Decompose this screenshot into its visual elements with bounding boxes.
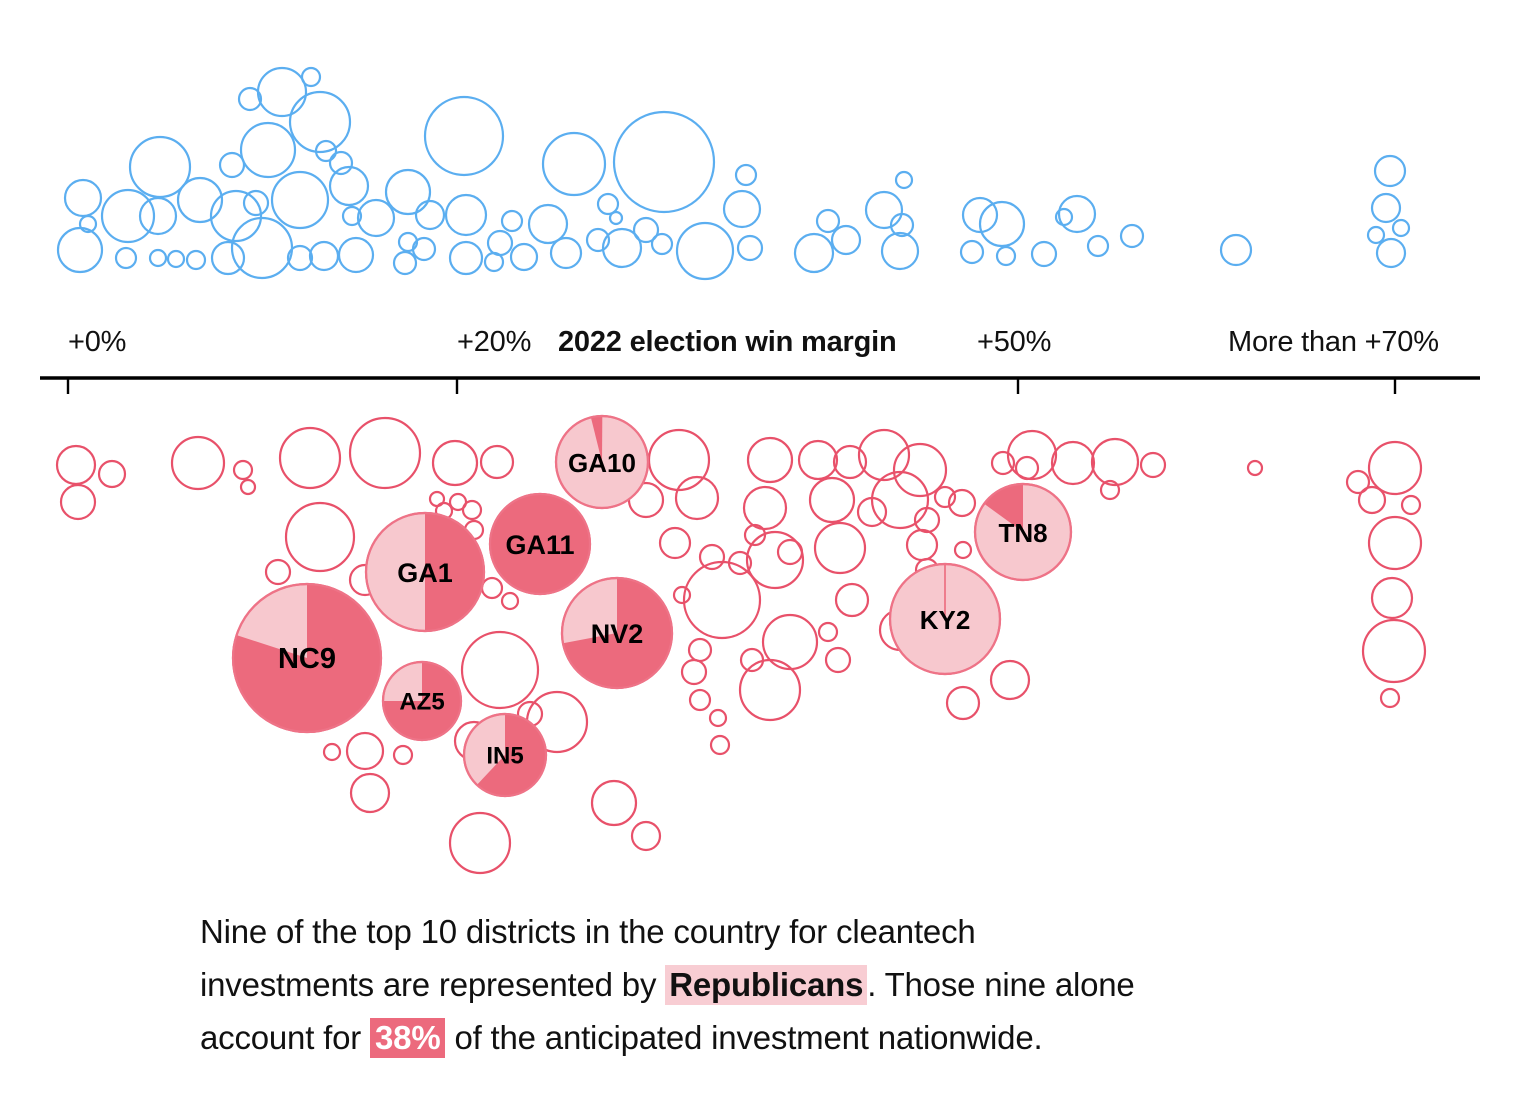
district-bubble <box>866 192 902 228</box>
highlighted-district-nv2[interactable]: NV2 <box>562 578 672 688</box>
district-bubble <box>1368 227 1384 243</box>
district-bubble <box>1052 442 1094 484</box>
district-bubble <box>1381 689 1399 707</box>
district-bubble <box>187 251 205 269</box>
district-bubble <box>347 733 383 769</box>
district-bubble <box>1088 236 1108 256</box>
district-bubble <box>488 231 512 255</box>
district-bubble <box>266 560 290 584</box>
district-bubble <box>150 250 166 266</box>
highlighted-district-tn8[interactable]: TN8 <box>975 484 1071 580</box>
district-bubble <box>1248 461 1262 475</box>
district-bubble <box>700 545 724 569</box>
district-bubble <box>836 584 868 616</box>
district-bubble <box>446 195 486 235</box>
district-bubble <box>748 438 792 482</box>
district-label: NC9 <box>278 643 336 675</box>
district-bubble <box>1221 235 1251 265</box>
district-bubble <box>511 244 537 270</box>
district-bubble <box>832 226 860 254</box>
series-democrat <box>58 68 1409 279</box>
district-bubble <box>140 198 176 234</box>
district-label: NV2 <box>591 619 644 649</box>
highlighted-district-az5[interactable]: AZ5 <box>383 662 461 740</box>
axis-tick-label-0: +0% <box>68 326 126 359</box>
highlighted-district-ga11[interactable]: GA11 <box>490 494 590 594</box>
district-bubble <box>763 615 817 669</box>
district-bubble <box>834 446 866 478</box>
district-bubble <box>172 437 224 489</box>
highlighted-district-ga1[interactable]: GA1 <box>366 513 484 631</box>
caption-line-3-post: of the anticipated investment nationwide… <box>445 1019 1042 1056</box>
district-label: KY2 <box>920 605 971 635</box>
district-label: GA10 <box>568 448 636 478</box>
district-bubble <box>736 165 756 185</box>
district-bubble <box>168 251 184 267</box>
district-bubble <box>212 242 244 274</box>
district-bubble <box>351 774 389 812</box>
district-bubble <box>1372 194 1400 222</box>
district-bubble <box>738 236 762 260</box>
district-bubble <box>350 418 420 488</box>
district-bubble <box>58 228 102 272</box>
district-bubble <box>882 233 918 269</box>
district-bubble <box>632 822 660 850</box>
district-bubble <box>980 202 1024 246</box>
district-bubble <box>894 444 946 496</box>
district-bubble <box>463 501 481 519</box>
district-bubble <box>1016 457 1038 479</box>
district-bubble <box>991 661 1029 699</box>
district-bubble <box>817 210 839 232</box>
district-bubble <box>239 88 261 110</box>
district-bubble <box>234 461 252 479</box>
district-bubble <box>907 530 937 560</box>
district-bubble <box>677 223 733 279</box>
district-bubble <box>543 133 605 195</box>
district-bubble <box>1141 453 1165 477</box>
district-bubble <box>99 461 125 487</box>
district-bubble <box>815 523 865 573</box>
district-bubble <box>244 191 268 215</box>
chart-root: NC9GA1GA11GA10NV2AZ5IN5TN8KY2 +0%+20%202… <box>0 0 1520 1100</box>
district-bubble <box>1372 578 1412 618</box>
district-bubble <box>502 593 518 609</box>
district-bubble <box>502 211 522 231</box>
district-bubble <box>1393 220 1409 236</box>
district-bubble <box>413 238 435 260</box>
highlighted-district-nc9[interactable]: NC9 <box>233 584 381 732</box>
district-bubble <box>433 441 477 485</box>
district-bubble <box>935 487 955 507</box>
caption-highlight-republicans: Republicans <box>665 965 867 1005</box>
district-bubble <box>947 687 979 719</box>
district-bubble <box>1092 439 1138 485</box>
district-bubble <box>997 247 1015 265</box>
caption-line-3-pre: account for <box>200 1019 370 1056</box>
highlighted-district-ky2[interactable]: KY2 <box>890 564 1000 674</box>
axis-tick-label-1: +20% <box>457 326 531 359</box>
district-bubble <box>339 238 373 272</box>
district-bubble <box>744 487 786 529</box>
district-bubble <box>992 452 1014 474</box>
district-bubble <box>416 201 444 229</box>
district-bubble <box>592 781 636 825</box>
district-bubble <box>65 180 101 216</box>
district-bubble <box>310 242 338 270</box>
axis-labels-row: +0%+20%2022 election win margin+50%More … <box>0 326 1520 382</box>
district-bubble <box>61 485 95 519</box>
district-bubble <box>481 446 513 478</box>
district-bubble <box>1059 196 1095 232</box>
caption-highlight-percent: 38% <box>370 1018 445 1058</box>
district-bubble <box>610 212 622 224</box>
district-bubble <box>1121 225 1143 247</box>
district-bubble <box>280 428 340 488</box>
district-bubble <box>425 97 503 175</box>
district-bubble <box>241 480 255 494</box>
district-bubble <box>649 430 709 490</box>
district-bubble <box>462 632 538 708</box>
district-bubble <box>689 639 711 661</box>
district-bubble <box>955 542 971 558</box>
caption-line-1: Nine of the top 10 districts in the coun… <box>200 913 976 950</box>
district-bubble <box>1359 487 1385 513</box>
district-bubble <box>386 170 430 214</box>
district-bubble <box>674 587 690 603</box>
district-bubble <box>1032 242 1056 266</box>
district-bubble <box>102 190 154 242</box>
district-bubble <box>272 172 328 228</box>
district-bubble <box>1377 239 1405 267</box>
highlighted-district-ga10[interactable]: GA10 <box>556 416 648 508</box>
district-bubble <box>220 153 244 177</box>
district-label: GA11 <box>505 530 574 560</box>
district-bubble <box>450 242 482 274</box>
district-bubble <box>682 660 706 684</box>
district-bubble <box>450 813 510 873</box>
district-bubble <box>1402 496 1420 514</box>
district-bubble <box>826 648 850 672</box>
highlighted-district-in5[interactable]: IN5 <box>464 714 546 796</box>
district-bubble <box>799 441 837 479</box>
district-bubble <box>286 503 354 571</box>
district-bubble <box>482 578 502 598</box>
district-bubble <box>896 172 912 188</box>
district-bubble <box>1375 156 1405 186</box>
district-bubble <box>394 746 412 764</box>
district-bubble <box>711 736 729 754</box>
district-bubble <box>778 540 802 564</box>
district-bubble <box>810 478 854 522</box>
district-bubble <box>1369 517 1421 569</box>
caption-line-2-post: . Those nine alone <box>867 966 1134 1003</box>
axis-tick-label-3: +50% <box>977 326 1051 359</box>
district-bubble <box>1008 431 1056 479</box>
district-bubble <box>485 253 503 271</box>
district-bubble <box>652 234 672 254</box>
district-bubble <box>1369 442 1421 494</box>
axis-tick-label-2: 2022 election win margin <box>558 326 897 359</box>
district-label: AZ5 <box>399 689 444 716</box>
district-bubble <box>302 68 320 86</box>
district-bubble <box>741 649 763 671</box>
district-bubble <box>57 446 95 484</box>
district-bubble <box>324 744 340 760</box>
district-label: IN5 <box>486 743 523 770</box>
district-bubble <box>819 623 837 641</box>
chart-caption: Nine of the top 10 districts in the coun… <box>200 905 1320 1064</box>
caption-line-2-pre: investments are represented by <box>200 966 665 1003</box>
district-bubble <box>795 234 833 272</box>
district-bubble <box>358 200 394 236</box>
district-bubble <box>394 252 416 274</box>
district-bubble <box>690 690 710 710</box>
district-bubble <box>710 710 726 726</box>
district-bubble <box>330 152 352 174</box>
district-bubble <box>961 241 983 263</box>
axis-tick-label-4: More than +70% <box>1228 326 1439 359</box>
district-bubble <box>116 248 136 268</box>
district-bubble <box>684 562 760 638</box>
district-bubble <box>551 238 581 268</box>
district-bubble <box>724 191 760 227</box>
district-bubble <box>529 205 567 243</box>
district-label: TN8 <box>998 518 1047 548</box>
district-bubble <box>241 123 295 177</box>
district-bubble <box>288 246 312 270</box>
district-bubble <box>258 68 306 116</box>
district-label: GA1 <box>397 558 453 588</box>
district-bubble <box>660 528 690 558</box>
district-bubble <box>1363 620 1425 682</box>
district-bubble <box>614 112 714 212</box>
